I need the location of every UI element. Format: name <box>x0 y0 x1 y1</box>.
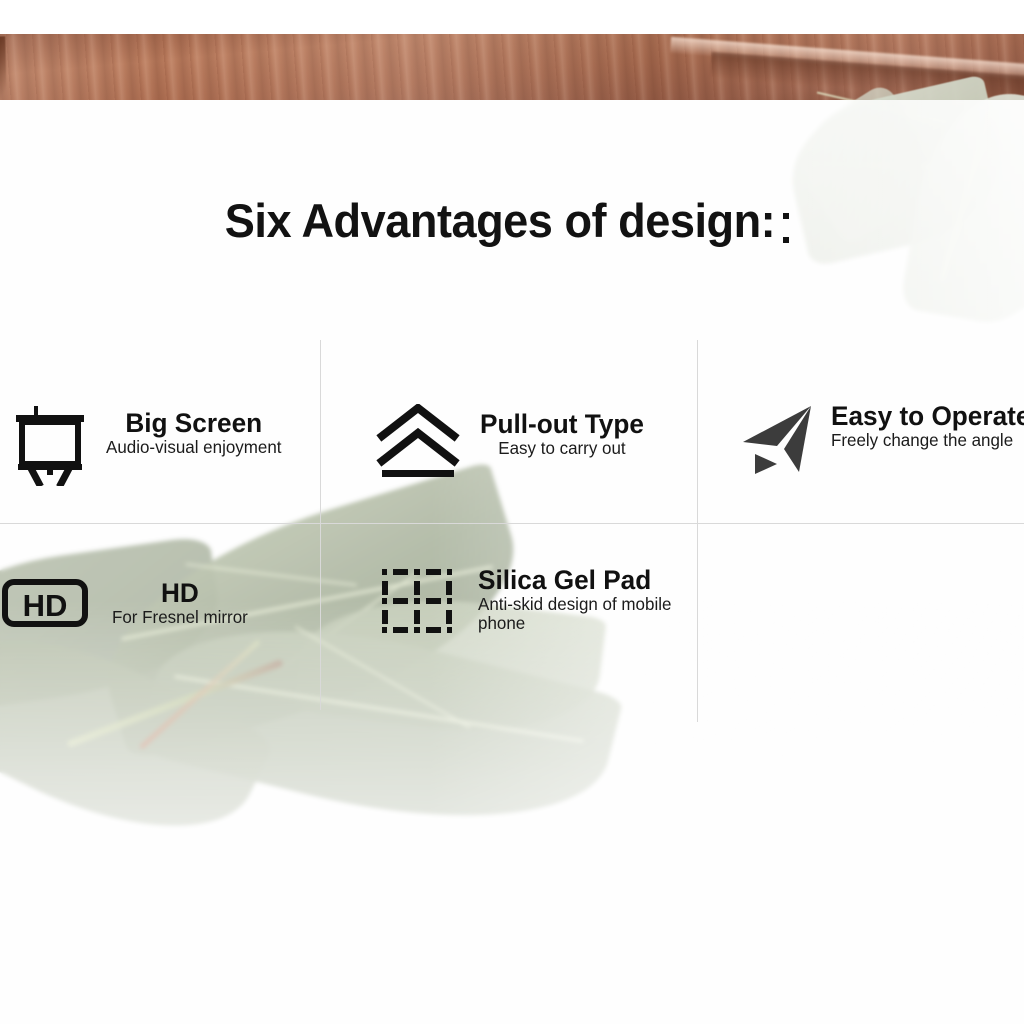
projector-screen-icon <box>14 404 88 486</box>
grid-divider-horizontal <box>0 523 1024 524</box>
feature-title: Silica Gel Pad <box>478 567 687 595</box>
feature-title: HD <box>112 580 248 608</box>
feature-text: Easy to Operate Freely change the angle <box>831 402 1024 450</box>
feature-text: Pull-out Type Easy to carry out <box>480 404 649 458</box>
feature-text: HD For Fresnel mirror <box>112 578 252 627</box>
wood-left-notch <box>0 36 7 100</box>
feature-title: Pull-out Type <box>480 411 644 439</box>
hd-badge-icon: HD <box>2 578 90 628</box>
grid-divider-vertical-left <box>320 340 321 710</box>
feature-subtitle: Easy to carry out <box>480 439 644 459</box>
feature-subtitle: Audio-visual enjoyment <box>106 438 282 458</box>
page-title: Six Advantages of design: <box>20 193 980 248</box>
paper-plane-icon <box>737 402 817 478</box>
feature-subtitle: Freely change the angle <box>831 431 1024 451</box>
feature-title: Big Screen <box>106 410 282 438</box>
feature-text: Silica Gel Pad Anti-skid design of mobil… <box>478 566 693 634</box>
feature-subtitle: For Fresnel mirror <box>112 608 248 628</box>
dashed-grid-icon <box>380 566 462 638</box>
wood-plank-band <box>0 34 1024 100</box>
wood-plank <box>0 34 1024 100</box>
feature-subtitle: Anti-skid design of mobile phone <box>478 595 687 634</box>
grid-divider-vertical-right <box>697 340 698 722</box>
feature-pull-out-type: Pull-out Type Easy to carry out <box>376 404 649 482</box>
product-infographic: Six Advantages of design: Big Screen Aud… <box>0 0 1024 1024</box>
svg-text:HD: HD <box>23 588 68 623</box>
feature-silica-gel-pad: Silica Gel Pad Anti-skid design of mobil… <box>380 566 693 638</box>
feature-easy-to-operate: Easy to Operate Freely change the angle <box>737 402 1024 478</box>
feature-text: Big Screen Audio-visual enjoyment <box>106 404 287 457</box>
feature-title: Easy to Operate <box>831 403 1024 431</box>
feature-hd: HD HD For Fresnel mirror <box>2 578 252 628</box>
feature-big-screen: Big Screen Audio-visual enjoyment <box>14 404 287 486</box>
double-chevron-up-icon <box>376 404 460 482</box>
